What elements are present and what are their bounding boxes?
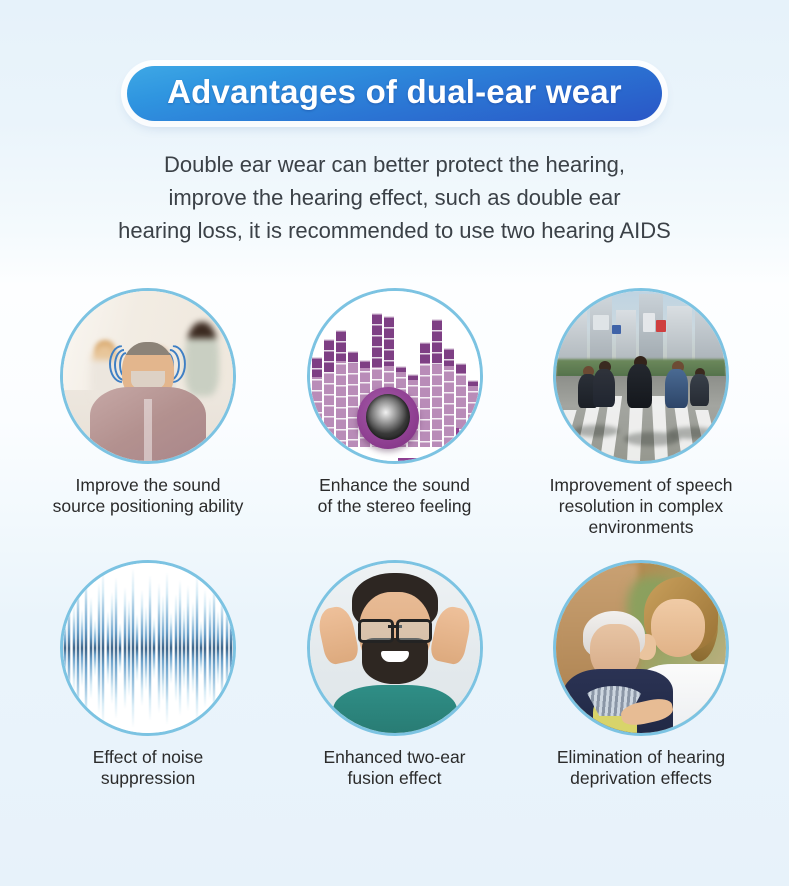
feature-image-circle	[553, 288, 729, 464]
page-title-banner: Advantages of dual-ear wear	[0, 66, 789, 121]
feature-row-1: Improve the sound source positioning abi…	[34, 288, 755, 538]
waveform-bar	[81, 609, 83, 687]
feature-caption-line: Enhance the sound	[287, 475, 502, 496]
feature-item-two-ear-fusion: Enhanced two-ear fusion effect	[281, 560, 509, 789]
waveform-bar	[98, 582, 100, 715]
city-crosswalk-crowd-photo	[556, 291, 726, 461]
waveform-bar	[102, 570, 104, 726]
waveform-bar	[213, 578, 215, 717]
page-subtitle: Double ear wear can better protect the h…	[0, 148, 789, 247]
feature-image-circle	[60, 288, 236, 464]
feature-item-stereo-feeling: Enhance the sound of the stereo feeling	[281, 288, 509, 538]
man-cupping-both-ears-photo	[310, 563, 480, 733]
waveform-bar	[90, 597, 92, 699]
feature-caption: Elimination of hearing deprivation effec…	[534, 747, 749, 789]
feature-caption-line: deprivation effects	[534, 768, 749, 789]
waveform-bar	[170, 612, 172, 683]
feature-caption: Effect of noise suppression	[41, 747, 256, 789]
waveform-bar	[204, 589, 206, 708]
subtitle-line-3: hearing loss, it is recommended to use t…	[0, 214, 789, 247]
waveform-bar	[145, 606, 147, 691]
promo-page: Advantages of dual-ear wear Double ear w…	[0, 0, 789, 886]
waveform-bar	[68, 589, 70, 708]
waveform-bar	[221, 590, 223, 706]
feature-caption-line: resolution in complex	[534, 496, 749, 517]
waveform-bar	[107, 611, 109, 686]
waveform-bar	[128, 599, 130, 698]
feature-image-circle	[307, 288, 483, 464]
feature-caption-line: Improvement of speech	[534, 475, 749, 496]
purple-equalizer-speaker-graphic	[310, 291, 480, 461]
feature-row-2: Effect of noise suppression	[34, 560, 755, 789]
waveform-bar	[115, 577, 117, 720]
waveform-bar	[149, 575, 151, 721]
feature-caption-line: suppression	[41, 768, 256, 789]
waveform-bar	[187, 585, 189, 711]
waveform-bar	[179, 580, 181, 716]
waveform-bar	[132, 568, 134, 728]
feature-caption: Enhanced two-ear fusion effect	[287, 747, 502, 789]
feature-caption-line: Effect of noise	[41, 747, 256, 768]
waveform-bar	[124, 587, 126, 709]
feature-caption-line: source positioning ability	[41, 496, 256, 517]
waveform-bar	[85, 566, 87, 729]
feature-item-sound-source-positioning: Improve the sound source positioning abi…	[34, 288, 262, 538]
waveform-bar	[119, 623, 121, 674]
page-title: Advantages of dual-ear wear	[167, 73, 622, 110]
blue-audio-waveform-graphic	[63, 563, 233, 733]
waveform-bar	[200, 621, 202, 675]
feature-image-circle	[60, 560, 236, 736]
feature-caption-line: Elimination of hearing	[534, 747, 749, 768]
waveform-bar	[141, 590, 143, 706]
feature-caption-line: of the stereo feeling	[287, 496, 502, 517]
feature-grid: Improve the sound source positioning abi…	[34, 288, 755, 789]
waveform-bar	[183, 607, 185, 689]
feature-caption: Improvement of speech resolution in comp…	[534, 475, 749, 538]
waveform-bar	[166, 572, 168, 725]
waveform-bar	[94, 619, 96, 677]
feature-caption-line: Enhanced two-ear	[287, 747, 502, 768]
smiling-man-with-sound-waves-photo	[63, 291, 233, 461]
title-pill: Advantages of dual-ear wear	[127, 66, 662, 121]
feature-caption-line: fusion effect	[287, 768, 502, 789]
waveform-bar	[153, 617, 155, 678]
feature-caption: Improve the sound source positioning abi…	[41, 475, 256, 517]
waveform-bar	[136, 614, 138, 682]
waveform-bar	[162, 595, 164, 700]
waveform-bar	[73, 604, 75, 692]
feature-item-speech-resolution: Improvement of speech resolution in comp…	[527, 288, 755, 538]
feature-image-circle	[307, 560, 483, 736]
feature-item-hearing-deprivation: Elimination of hearing deprivation effec…	[527, 560, 755, 789]
waveform-bar	[158, 583, 160, 712]
feature-caption: Enhance the sound of the stereo feeling	[287, 475, 502, 517]
subtitle-line-2: improve the hearing effect, such as doub…	[0, 181, 789, 214]
waveform-bar	[111, 592, 113, 704]
feature-caption-line: environments	[534, 517, 749, 538]
waveform-bar	[77, 573, 79, 723]
subtitle-line-1: Double ear wear can better protect the h…	[0, 148, 789, 181]
waveform-bar	[175, 594, 177, 703]
caregiver-whispering-to-elderly-woman-photo	[556, 563, 726, 733]
waveform-bar	[192, 602, 194, 694]
waveform-bar	[64, 616, 66, 681]
waveform-bar	[217, 611, 219, 686]
waveform-bar	[226, 600, 228, 695]
feature-item-noise-suppression: Effect of noise suppression	[34, 560, 262, 789]
waveform-bar	[196, 573, 198, 723]
waveform-bar	[230, 582, 232, 715]
waveform-bar	[209, 597, 211, 699]
feature-caption-line: Improve the sound	[41, 475, 256, 496]
feature-image-circle	[553, 560, 729, 736]
